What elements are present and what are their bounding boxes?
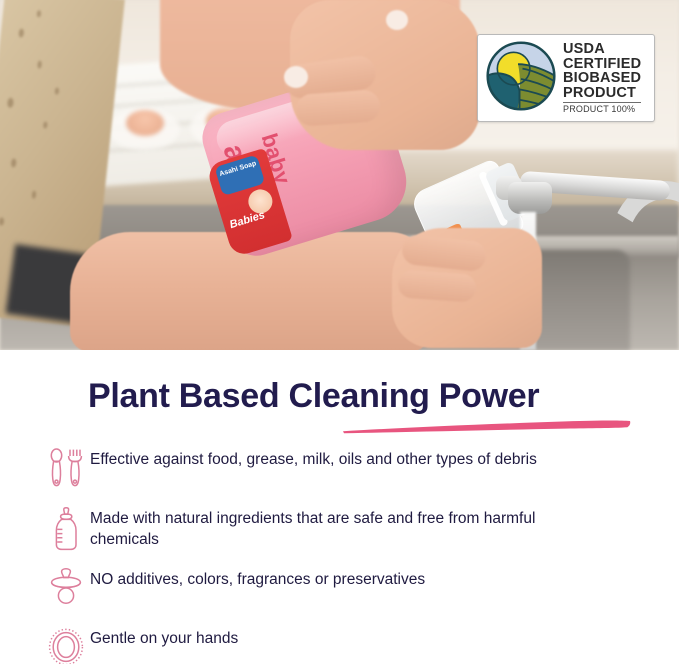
list-item: Gentle on your hands (42, 626, 642, 664)
hand-pressing-pump (290, 0, 480, 150)
spoon-and-fork-icon (42, 447, 90, 494)
feature-content-section: Plant Based Cleaning Power (0, 350, 679, 664)
usda-badge-line-1: USDA (563, 42, 641, 57)
feature-text: Effective against food, grease, milk, oi… (90, 447, 537, 470)
feature-text: Gentle on your hands (90, 626, 238, 649)
usda-badge-line-4: PRODUCT (563, 86, 641, 101)
finger (397, 269, 477, 302)
usda-biobased-logo-icon (484, 39, 558, 118)
usda-badge-divider (563, 102, 641, 103)
hero-photo: arau. baby Asahi Soap Babies (0, 0, 679, 350)
baby-bottle-icon (42, 506, 90, 553)
feature-text: NO additives, colors, fragrances or pres… (90, 567, 425, 590)
list-item: NO additives, colors, fragrances or pres… (42, 567, 642, 614)
fingernail (386, 10, 408, 30)
usda-badge-line-2: CERTIFIED (563, 57, 641, 72)
list-item: Made with natural ingredients that are s… (42, 506, 642, 553)
feature-text: Made with natural ingredients that are s… (90, 506, 590, 550)
teething-ring-icon (42, 626, 90, 664)
pacifier-icon (42, 567, 90, 614)
label-category-text: Babies (228, 209, 266, 231)
fingernail (284, 66, 308, 88)
usda-badge-sublabel: PRODUCT 100% (563, 104, 641, 114)
finger (295, 89, 381, 127)
hand-holding-baby-bottle (392, 228, 542, 348)
list-item: Effective against food, grease, milk, oi… (42, 447, 642, 494)
product-feature-page: arau. baby Asahi Soap Babies (0, 0, 679, 664)
bottle-nipple-1 (126, 110, 164, 136)
usda-badge-line-3: BIOBASED (563, 71, 641, 86)
usda-certified-biobased-product-badge: USDA CERTIFIED BIOBASED PRODUCT PRODUCT … (477, 34, 655, 122)
finger (401, 234, 488, 273)
page-title: Plant Based Cleaning Power (88, 377, 539, 416)
usda-badge-text-block: USDA CERTIFIED BIOBASED PRODUCT PRODUCT … (563, 42, 647, 114)
feature-list: Effective against food, grease, milk, oi… (42, 447, 642, 664)
title-underline-brushstroke (341, 418, 632, 434)
faucet-head (508, 182, 552, 214)
